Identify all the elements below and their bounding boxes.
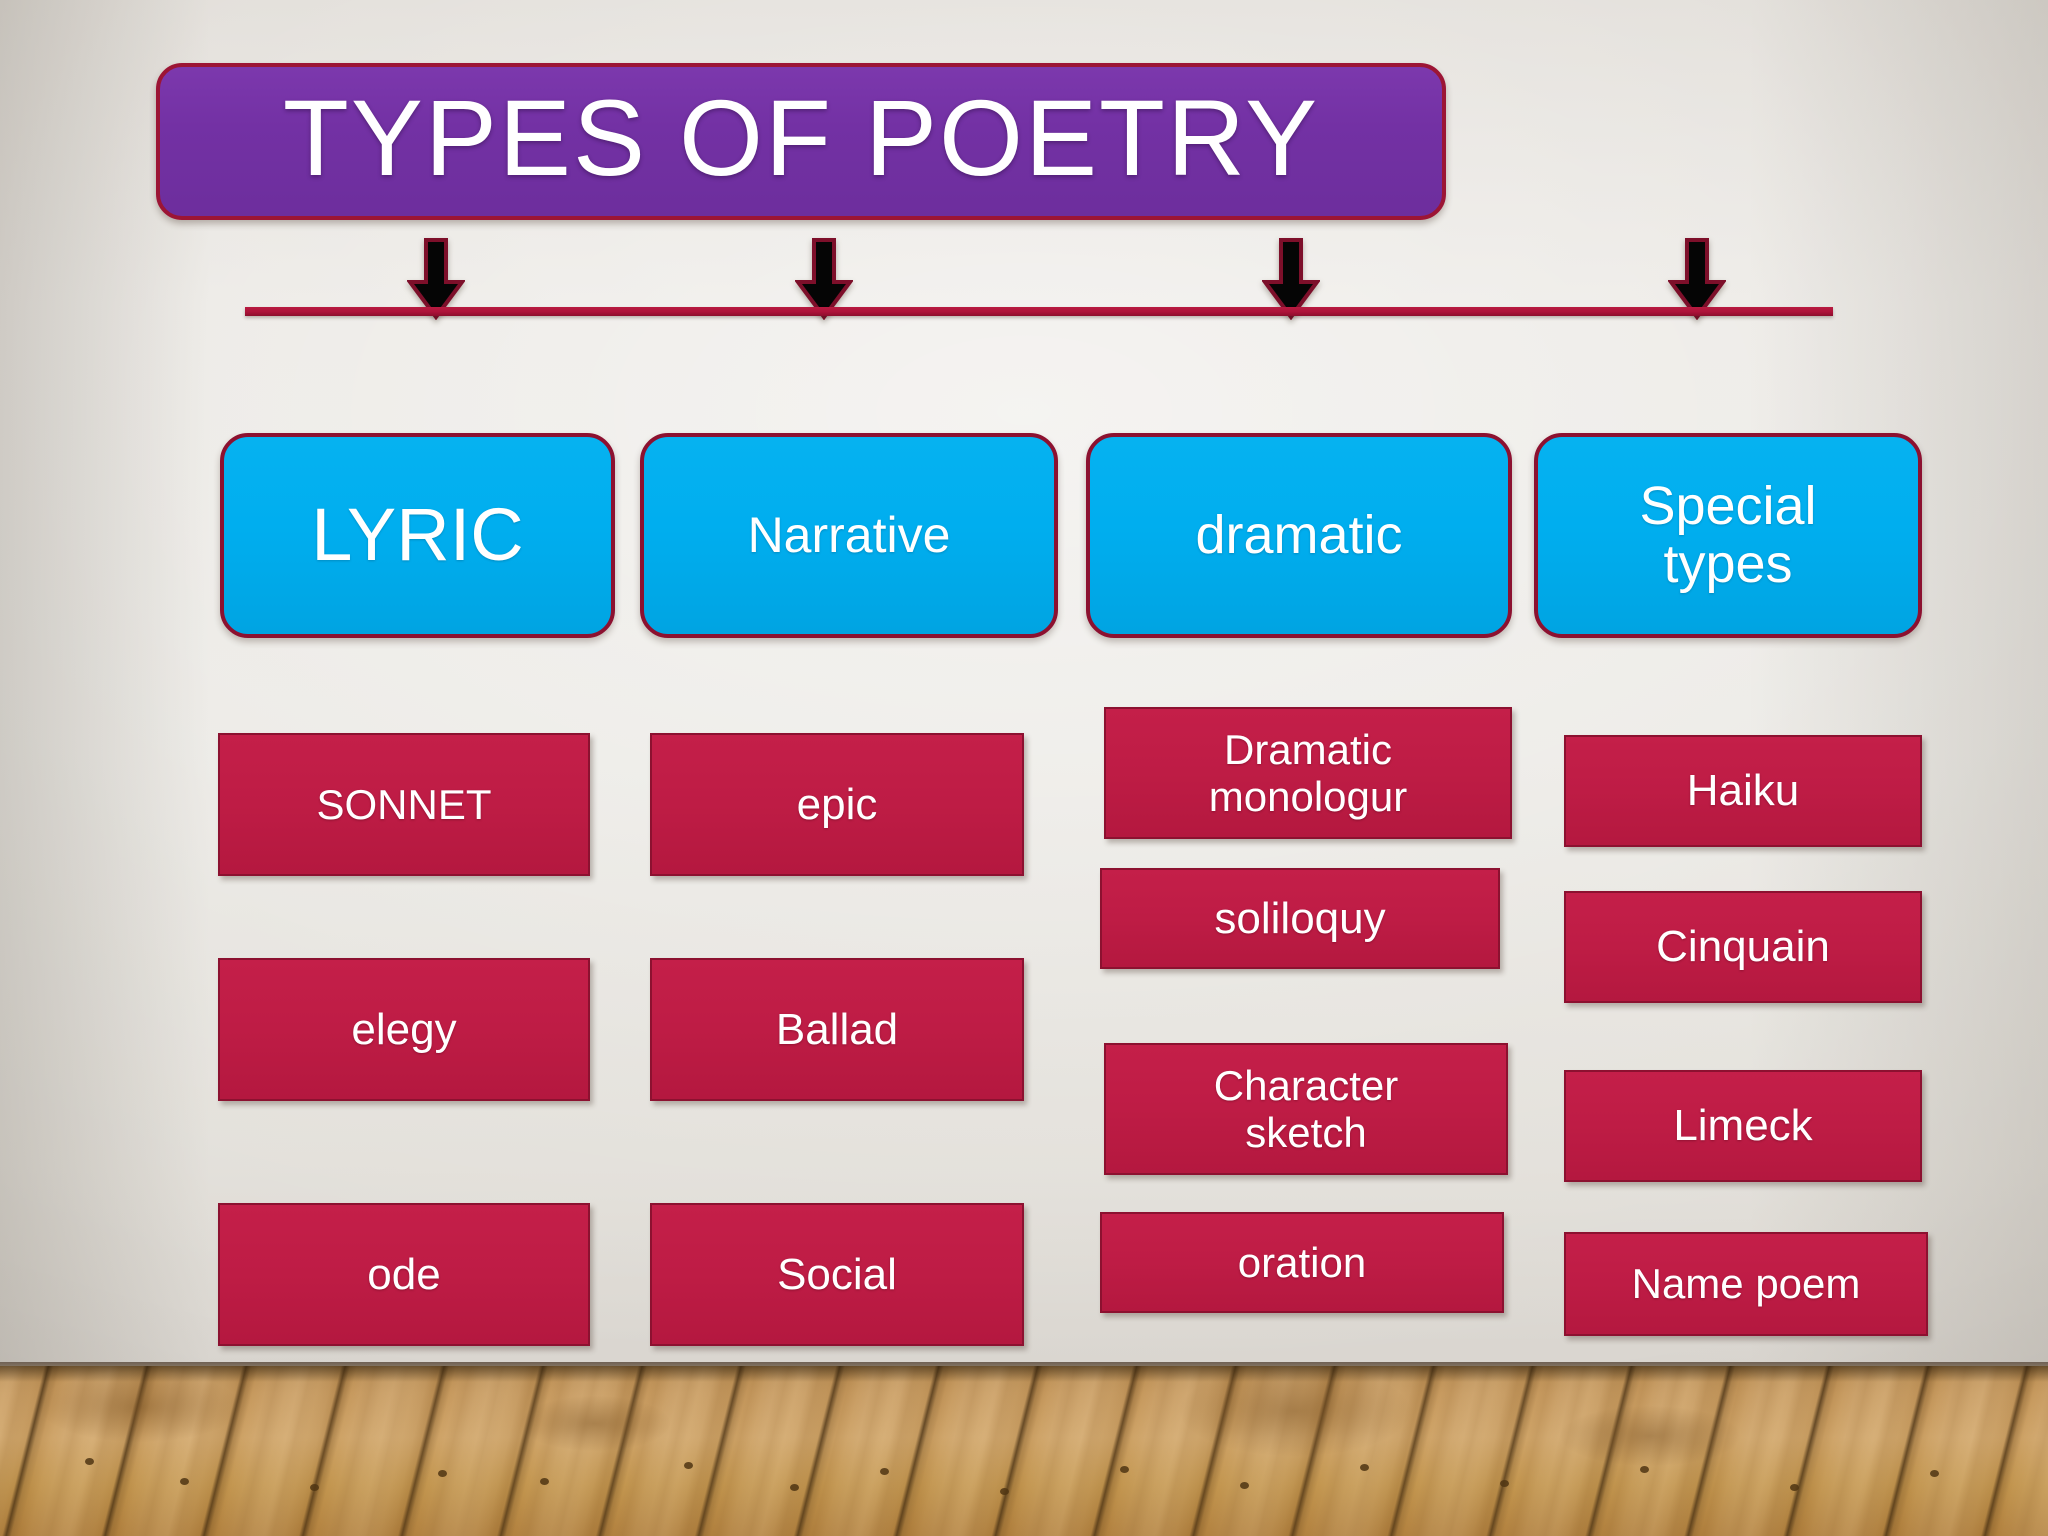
category-label: dramatic — [1185, 507, 1412, 564]
item-label: Cinquain — [1648, 922, 1838, 971]
item-label: Character sketch — [1186, 1062, 1426, 1156]
floor-nail — [1360, 1464, 1369, 1471]
floor-stain — [40, 1372, 240, 1442]
category-label: Special types — [1608, 478, 1848, 592]
item-label: elegy — [343, 1005, 464, 1054]
divider-line — [245, 307, 1833, 316]
item-box-ode[interactable]: ode — [218, 1203, 590, 1346]
floor-nail — [684, 1462, 693, 1469]
category-box-narrative[interactable]: Narrative — [640, 433, 1058, 638]
item-box-character-sketch[interactable]: Character sketch — [1104, 1043, 1508, 1175]
item-box-dramatic-monologue[interactable]: Dramatic monologur — [1104, 707, 1512, 839]
item-box-haiku[interactable]: Haiku — [1564, 735, 1922, 847]
item-box-oration[interactable]: oration — [1100, 1212, 1504, 1313]
floor-nail — [1240, 1482, 1249, 1489]
item-label: Social — [769, 1250, 905, 1299]
item-label: oration — [1230, 1239, 1374, 1286]
item-box-cinquain[interactable]: Cinquain — [1564, 891, 1922, 1003]
item-box-sonnet[interactable]: SONNET — [218, 733, 590, 876]
item-label: soliloquy — [1206, 894, 1393, 943]
slide-canvas: TYPES OF POETRY LYRIC Narrative dramatic — [0, 0, 2048, 1536]
floor-nail — [438, 1470, 447, 1477]
item-box-soliloquy[interactable]: soliloquy — [1100, 868, 1500, 969]
floor-nail — [85, 1458, 94, 1465]
item-box-elegy[interactable]: elegy — [218, 958, 590, 1101]
floor-nail — [880, 1468, 889, 1475]
category-box-special-types[interactable]: Special types — [1534, 433, 1922, 638]
floor-stain — [520, 1396, 670, 1451]
item-label: epic — [789, 780, 886, 829]
floor-nail — [1000, 1488, 1009, 1495]
category-label: LYRIC — [301, 496, 533, 574]
floor-nail — [180, 1478, 189, 1485]
item-box-name-poem[interactable]: Name poem — [1564, 1232, 1928, 1336]
category-label: Narrative — [738, 509, 961, 562]
floor-wall-contact-shadow — [0, 1366, 2048, 1382]
item-label: Haiku — [1679, 766, 1808, 815]
item-label: Name poem — [1624, 1260, 1869, 1307]
item-label: Ballad — [768, 1005, 906, 1054]
item-label: Dramatic monologur — [1148, 726, 1468, 820]
category-box-dramatic[interactable]: dramatic — [1086, 433, 1512, 638]
item-label: ode — [359, 1250, 448, 1299]
floor-nail — [1790, 1484, 1799, 1491]
floor-nail — [1500, 1480, 1509, 1487]
item-box-ballad[interactable]: Ballad — [650, 958, 1024, 1101]
item-label: SONNET — [308, 781, 499, 828]
wooden-floor — [0, 1366, 2048, 1536]
floor-wood-grain — [0, 1366, 2048, 1536]
item-box-epic[interactable]: epic — [650, 733, 1024, 876]
category-box-lyric[interactable]: LYRIC — [220, 433, 615, 638]
floor-nail — [1930, 1470, 1939, 1477]
floor-nail — [540, 1478, 549, 1485]
item-label: Limeck — [1665, 1101, 1820, 1150]
floor-nail — [1120, 1466, 1129, 1473]
item-box-social[interactable]: Social — [650, 1203, 1024, 1346]
floor-nail — [1640, 1466, 1649, 1473]
floor-stain — [1560, 1406, 1740, 1466]
item-box-limeck[interactable]: Limeck — [1564, 1070, 1922, 1182]
floor-nail — [310, 1484, 319, 1491]
title-banner[interactable]: TYPES OF POETRY — [156, 63, 1446, 220]
page-title: TYPES OF POETRY — [283, 84, 1319, 192]
floor-nail — [790, 1484, 799, 1491]
